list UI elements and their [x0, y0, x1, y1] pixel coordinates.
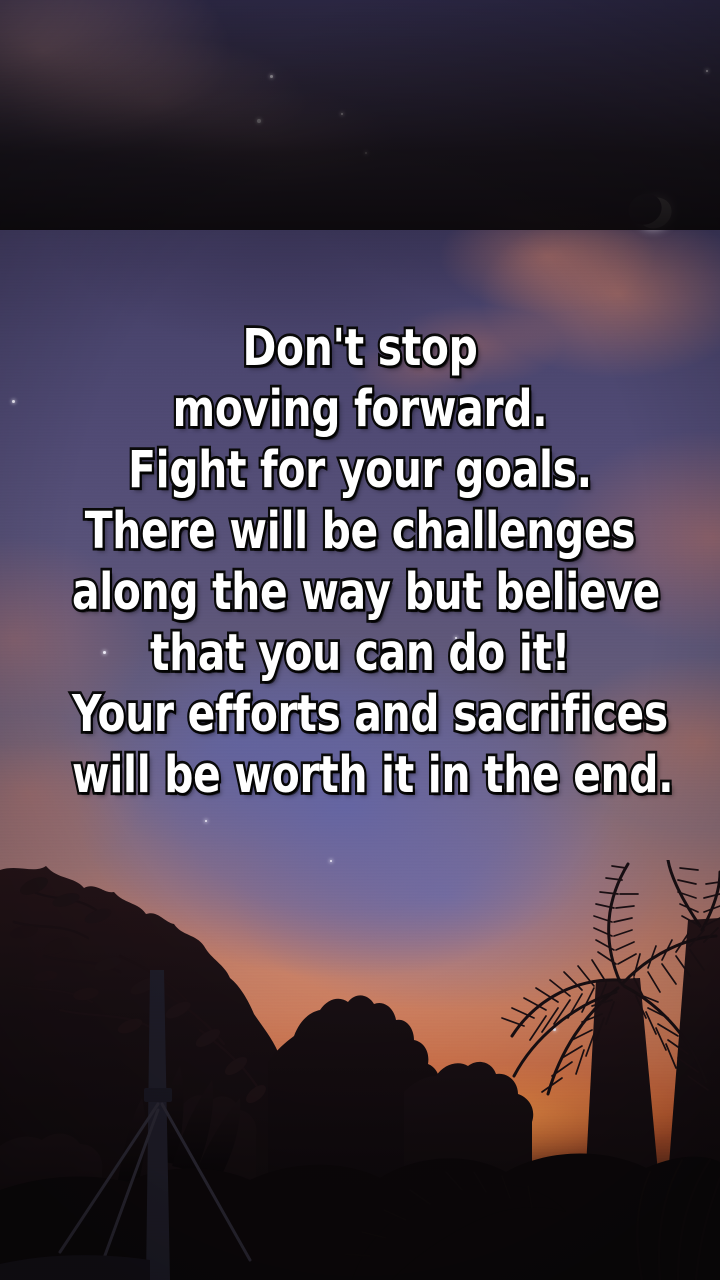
quote-line: Fight for your goals.	[72, 440, 648, 501]
star-icon	[205, 820, 207, 822]
quote-line: moving forward.	[72, 379, 648, 440]
crescent-moon-icon	[633, 192, 677, 234]
foreground-silhouette-layer	[0, 860, 720, 1280]
wallpaper-canvas: Don't stop moving forward. Fight for you…	[0, 0, 720, 1280]
quote-line: will be worth it in the end.	[72, 745, 648, 806]
star-icon	[341, 113, 343, 115]
quote-text-block: Don't stop moving forward. Fight for you…	[0, 318, 720, 806]
quote-line: Your efforts and sacrifices	[72, 684, 648, 745]
quote-line: There will be challenges	[72, 501, 648, 562]
quote-line: along the way but believe	[72, 562, 648, 623]
star-icon	[365, 152, 367, 154]
bottom-shadow-overlay	[0, 0, 720, 230]
star-icon	[270, 75, 273, 78]
star-icon	[706, 70, 708, 72]
quote-line: Don't stop	[72, 318, 648, 379]
star-icon	[257, 119, 261, 123]
quote-line: that you can do it!	[72, 623, 648, 684]
